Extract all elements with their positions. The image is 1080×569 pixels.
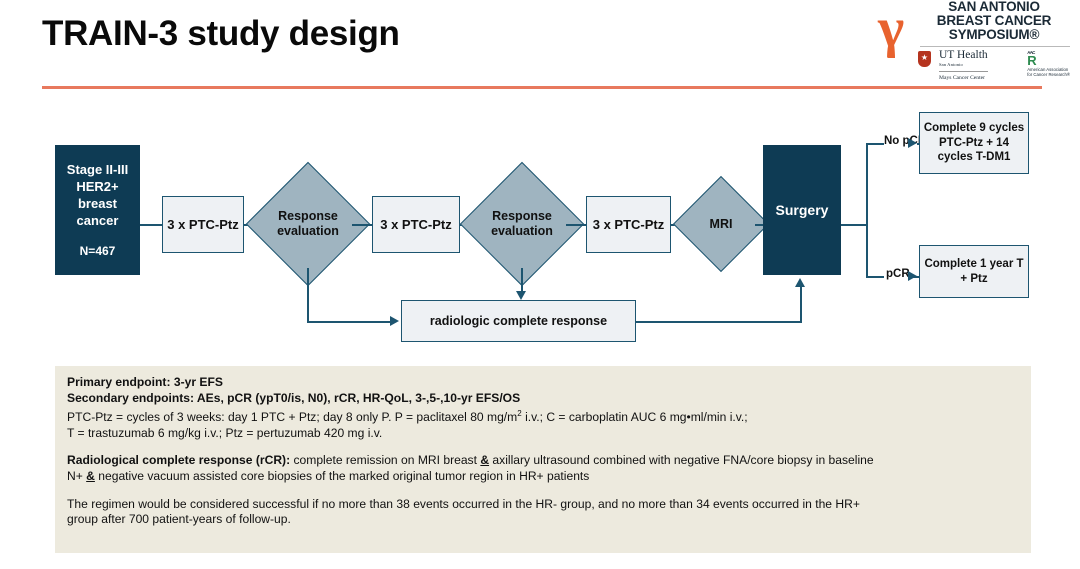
- ut-health-shield-icon: [918, 51, 931, 67]
- node-treatment-1: 3 x PTC-Ptz: [162, 196, 244, 253]
- branch-trunk: [866, 143, 868, 278]
- aacr-line2: for Cancer Research®: [1027, 72, 1070, 77]
- page-title: TRAIN-3 study design: [42, 14, 400, 54]
- sabcs-logo-line2: BREAST CANCER: [918, 14, 1070, 28]
- node-population: Stage II-III HER2+ breast cancer N=467: [55, 145, 140, 275]
- connector-branch-no-pcr: [866, 143, 884, 145]
- node-outcome-pcr: Complete 1 year T + Ptz: [919, 245, 1029, 298]
- regimen-line1-part-b: i.v.; C = carboplatin AUC 6 mg•ml/min i.…: [522, 410, 748, 424]
- sabcs-logo-line3: SYMPOSIUM®: [918, 28, 1070, 42]
- response-evaluation-1-label: Response evaluation: [264, 180, 352, 268]
- connector-response1-to-treatment2: [352, 224, 372, 226]
- secondary-endpoint-label: Secondary endpoints:: [67, 391, 194, 405]
- connector-response2-to-treatment3: [566, 224, 586, 226]
- node-response-evaluation-2: Response evaluation: [478, 180, 566, 268]
- rcr-label: Radiological complete response (rCR):: [67, 453, 290, 467]
- arrow-up-surgery-icon: [795, 278, 805, 287]
- rcr-text-b: axillary ultrasound combined with negati…: [489, 453, 874, 467]
- population-line3: breast: [78, 195, 117, 212]
- sabcs-logo: γ SAN ANTONIO BREAST CANCER SYMPOSIUM® U…: [876, 0, 1072, 78]
- endpoints-notes-panel: Primary endpoint: 3-yr EFS Secondary end…: [55, 366, 1031, 553]
- population-line2: HER2+: [76, 178, 118, 195]
- secondary-endpoint-line: Secondary endpoints: AEs, pCR (ypT0/is, …: [67, 391, 1019, 407]
- aacr-logo: AACR American Association for Cancer Res…: [1027, 50, 1070, 77]
- aacr-abbr-2: R: [1027, 53, 1036, 68]
- primary-endpoint-label: Primary endpoint:: [67, 375, 170, 389]
- connector-branch-pcr: [866, 276, 884, 278]
- rcr-ampersand-1: &: [480, 453, 489, 467]
- node-treatment-2: 3 x PTC-Ptz: [372, 196, 460, 253]
- population-line1: Stage II-III: [67, 161, 128, 178]
- title-divider: [42, 86, 1042, 89]
- node-mri: MRI: [687, 190, 755, 258]
- regimen-line-2: T = trastuzumab 6 mg/kg i.v.; Ptz = pert…: [67, 426, 1019, 442]
- primary-endpoint-line: Primary endpoint: 3-yr EFS: [67, 375, 1019, 391]
- regimen-line-1: PTC-Ptz = cycles of 3 weeks: day 1 PTC +…: [67, 406, 1019, 426]
- sabcs-logo-title: SAN ANTONIO BREAST CANCER SYMPOSIUM®: [918, 0, 1070, 41]
- rcr-definition-line-2: N+ & negative vacuum assisted core biops…: [67, 469, 1019, 485]
- ut-health-city: San Antonio: [939, 60, 988, 70]
- connector-surgery-to-branch: [841, 224, 867, 226]
- rcr-ampersand-2: &: [86, 469, 95, 483]
- arrow-pcr-icon: [908, 271, 917, 281]
- ut-health-logo: UT Health San Antonio Mays Cancer Center: [939, 50, 988, 83]
- node-outcome-no-pcr: Complete 9 cycles PTC-Ptz + 14 cycles T-…: [919, 112, 1029, 174]
- population-line4: cancer: [77, 212, 119, 229]
- arrow-into-radiologic-icon: [390, 316, 399, 326]
- node-response-evaluation-1: Response evaluation: [264, 180, 352, 268]
- node-surgery: Surgery: [763, 145, 841, 275]
- mri-label: MRI: [687, 190, 755, 258]
- aacr-abbr: AACR: [1027, 50, 1070, 67]
- rcr-line2-part-b: negative vacuum assisted core biopsies o…: [95, 469, 589, 483]
- population-count: N=467: [80, 243, 116, 260]
- logo-divider: [920, 46, 1070, 47]
- connector-response2-down: [521, 268, 523, 292]
- arrow-down-radiologic-icon: [516, 291, 526, 300]
- connector-population-to-treatment1: [140, 224, 162, 226]
- ut-health-center: Mays Cancer Center: [939, 71, 988, 83]
- connector-response1-right: [307, 321, 392, 323]
- connector-radiologic-up: [800, 287, 802, 322]
- ut-health-name: UT Health: [939, 50, 988, 60]
- node-radiologic-response: radiologic complete response: [401, 300, 636, 342]
- logo-sublogos: UT Health San Antonio Mays Cancer Center…: [918, 50, 1070, 78]
- response-evaluation-2-label: Response evaluation: [478, 180, 566, 268]
- rcr-text-a: complete remission on MRI breast: [290, 453, 480, 467]
- sabcs-ribbon-icon: γ: [878, 2, 916, 60]
- success-criteria-line-1: The regimen would be considered successf…: [67, 497, 1019, 513]
- node-treatment-3: 3 x PTC-Ptz: [586, 196, 671, 253]
- rcr-line2-part-a: N+: [67, 469, 86, 483]
- rcr-definition-line-1: Radiological complete response (rCR): co…: [67, 453, 1019, 469]
- study-flow-diagram: Stage II-III HER2+ breast cancer N=467 3…: [0, 100, 1080, 370]
- success-criteria-line-2: group after 700 patient-years of follow-…: [67, 512, 1019, 528]
- branch-label-pcr: pCR: [886, 268, 910, 280]
- arrow-no-pcr-icon: [908, 138, 917, 148]
- connector-mri-to-surgery: [755, 224, 763, 226]
- secondary-endpoint-value: AEs, pCR (ypT0/is, N0), rCR, HR-QoL, 3-,…: [194, 391, 520, 405]
- connector-response1-down: [307, 268, 309, 323]
- connector-radiologic-right: [636, 321, 802, 323]
- sabcs-logo-line1: SAN ANTONIO: [918, 0, 1070, 14]
- regimen-line1-part-a: PTC-Ptz = cycles of 3 weeks: day 1 PTC +…: [67, 410, 517, 424]
- primary-endpoint-value: 3-yr EFS: [170, 375, 222, 389]
